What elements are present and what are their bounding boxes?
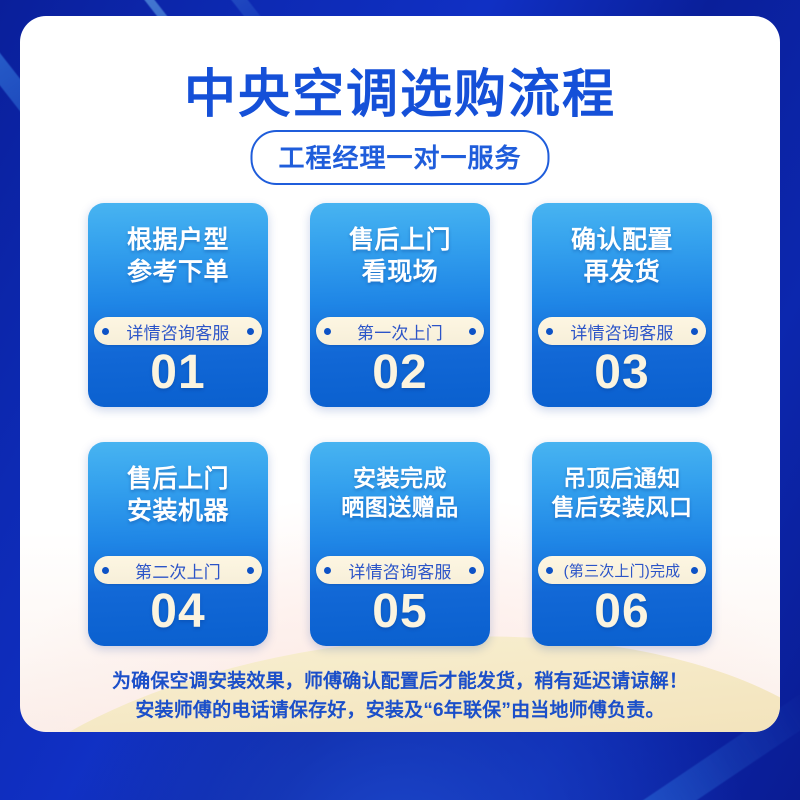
footer-note: 为确保空调安装效果，师傅确认配置后才能发货，稍有延迟请谅解！ 安装师傅的电话请保… — [0, 668, 800, 726]
dot-icon — [102, 567, 109, 574]
step-card-06-line1: 吊顶后通知 — [563, 465, 681, 491]
step-card-04-line2: 安装机器 — [88, 496, 268, 528]
step-card-01-line1: 根据户型 — [127, 226, 229, 254]
footer-line-2: 安装师傅的电话请保存好，安装及“6年联保”由当地师傅负责。 — [0, 697, 800, 726]
step-card-02-tag-label: 第一次上门 — [357, 319, 443, 344]
step-card-01-tag-label: 详情咨询客服 — [126, 319, 229, 344]
step-card-05-line2: 晒图送赠品 — [310, 493, 490, 522]
dot-icon — [324, 567, 331, 574]
step-card-02-number: 02 — [310, 349, 490, 397]
step-card-02-line1: 售后上门 — [349, 226, 451, 254]
dot-icon — [247, 567, 254, 574]
step-card-02-line2: 看现场 — [310, 257, 490, 289]
step-card-06-heading: 吊顶后通知 售后安装风口 — [532, 464, 712, 522]
dot-icon — [691, 328, 698, 335]
step-card-04-tag[interactable]: 第二次上门 — [94, 556, 262, 584]
step-card-01-line2: 参考下单 — [88, 257, 268, 289]
step-card-01-tag[interactable]: 详情咨询客服 — [94, 317, 262, 345]
step-card-06[interactable]: 吊顶后通知 售后安装风口 (第三次上门)完成 06 — [532, 442, 712, 646]
step-card-03-heading: 确认配置 再发货 — [532, 225, 712, 289]
dot-icon — [546, 328, 553, 335]
step-card-05-number: 05 — [310, 588, 490, 636]
dot-icon — [469, 328, 476, 335]
step-card-05-line1: 安装完成 — [353, 465, 447, 491]
footer-line-1: 为确保空调安装效果，师傅确认配置后才能发货，稍有延迟请谅解！ — [0, 668, 800, 697]
dot-icon — [324, 328, 331, 335]
step-card-05-tag-label: 详情咨询客服 — [348, 558, 451, 583]
step-card-01-number: 01 — [88, 349, 268, 397]
step-card-06-tag[interactable]: (第三次上门)完成 — [538, 556, 706, 584]
step-card-01[interactable]: 根据户型 参考下单 详情咨询客服 01 — [88, 203, 268, 407]
subtitle-badge: 工程经理一对一服务 — [250, 130, 549, 185]
step-card-03[interactable]: 确认配置 再发货 详情咨询客服 03 — [532, 203, 712, 407]
dot-icon — [691, 567, 698, 574]
poster-root: 中央空调选购流程 工程经理一对一服务 根据户型 参考下单 详情咨询客服 01 售… — [0, 0, 800, 800]
step-card-03-line2: 再发货 — [532, 257, 712, 289]
step-card-06-line2: 售后安装风口 — [532, 493, 712, 522]
step-card-02[interactable]: 售后上门 看现场 第一次上门 02 — [310, 203, 490, 407]
steps-grid: 根据户型 参考下单 详情咨询客服 01 售后上门 看现场 第一次上门 02 — [88, 203, 712, 646]
dot-icon — [247, 328, 254, 335]
step-card-04-heading: 售后上门 安装机器 — [88, 464, 268, 528]
step-card-05-tag[interactable]: 详情咨询客服 — [316, 556, 484, 584]
step-card-03-tag-label: 详情咨询客服 — [570, 319, 673, 344]
dot-icon — [546, 567, 553, 574]
dot-icon — [469, 567, 476, 574]
step-card-03-line1: 确认配置 — [571, 226, 673, 254]
step-card-04[interactable]: 售后上门 安装机器 第二次上门 04 — [88, 442, 268, 646]
step-card-03-tag[interactable]: 详情咨询客服 — [538, 317, 706, 345]
step-card-01-heading: 根据户型 参考下单 — [88, 225, 268, 289]
step-card-06-number: 06 — [532, 588, 712, 636]
step-card-02-heading: 售后上门 看现场 — [310, 225, 490, 289]
step-card-04-line1: 售后上门 — [127, 465, 229, 493]
page-title: 中央空调选购流程 — [0, 52, 800, 127]
step-card-04-tag-label: 第二次上门 — [135, 558, 221, 583]
step-card-05-heading: 安装完成 晒图送赠品 — [310, 464, 490, 522]
step-card-02-tag[interactable]: 第一次上门 — [316, 317, 484, 345]
dot-icon — [102, 328, 109, 335]
step-card-03-number: 03 — [532, 349, 712, 397]
step-card-04-number: 04 — [88, 588, 268, 636]
step-card-06-tag-label: (第三次上门)完成 — [564, 560, 681, 581]
step-card-05[interactable]: 安装完成 晒图送赠品 详情咨询客服 05 — [310, 442, 490, 646]
